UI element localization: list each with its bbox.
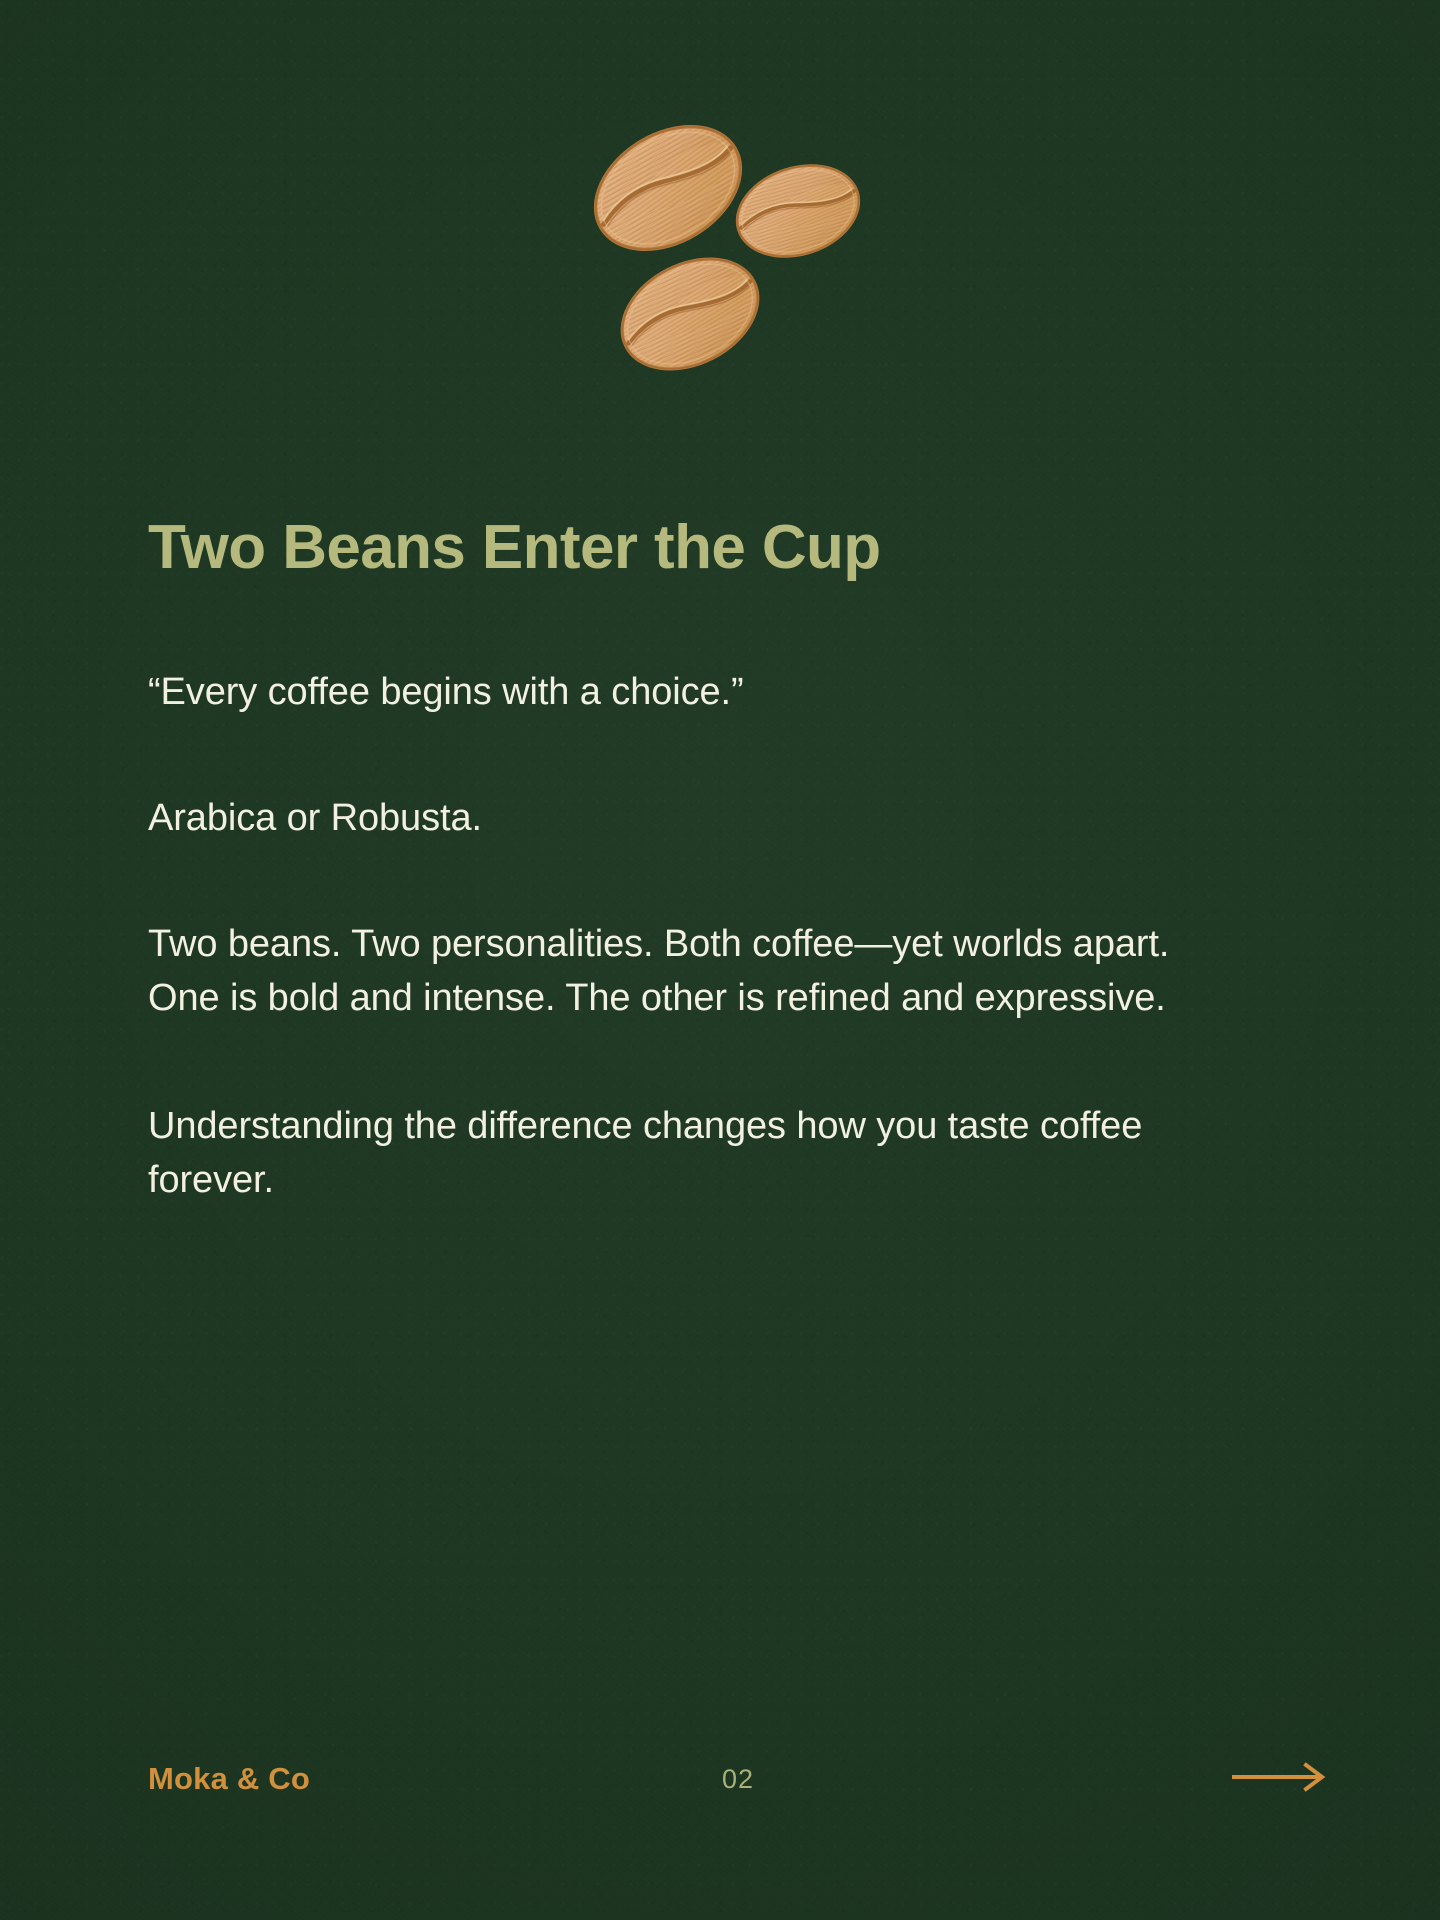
- coffee-bean-bottom: [604, 237, 777, 391]
- pull-quote: “Every coffee begins with a choice.”: [148, 666, 1178, 720]
- coffee-beans-illustration: [0, 96, 1440, 396]
- coffee-bean-top-left: [573, 102, 762, 275]
- page-title: Two Beans Enter the Cup: [148, 516, 1328, 580]
- closing-paragraph: Understanding the difference changes how…: [148, 1100, 1178, 1208]
- slide-footer: Moka & Co 02: [148, 1756, 1328, 1802]
- slide-canvas: Two Beans Enter the Cup “Every coffee be…: [0, 0, 1440, 1920]
- bean-choice-line: Arabica or Robusta.: [148, 792, 1178, 846]
- description-paragraph: Two beans. Two personalities. Both coffe…: [148, 918, 1178, 1026]
- coffee-bean-right: [725, 151, 870, 272]
- slide-content: Two Beans Enter the Cup “Every coffee be…: [148, 516, 1328, 1208]
- page-number: 02: [148, 1764, 1328, 1795]
